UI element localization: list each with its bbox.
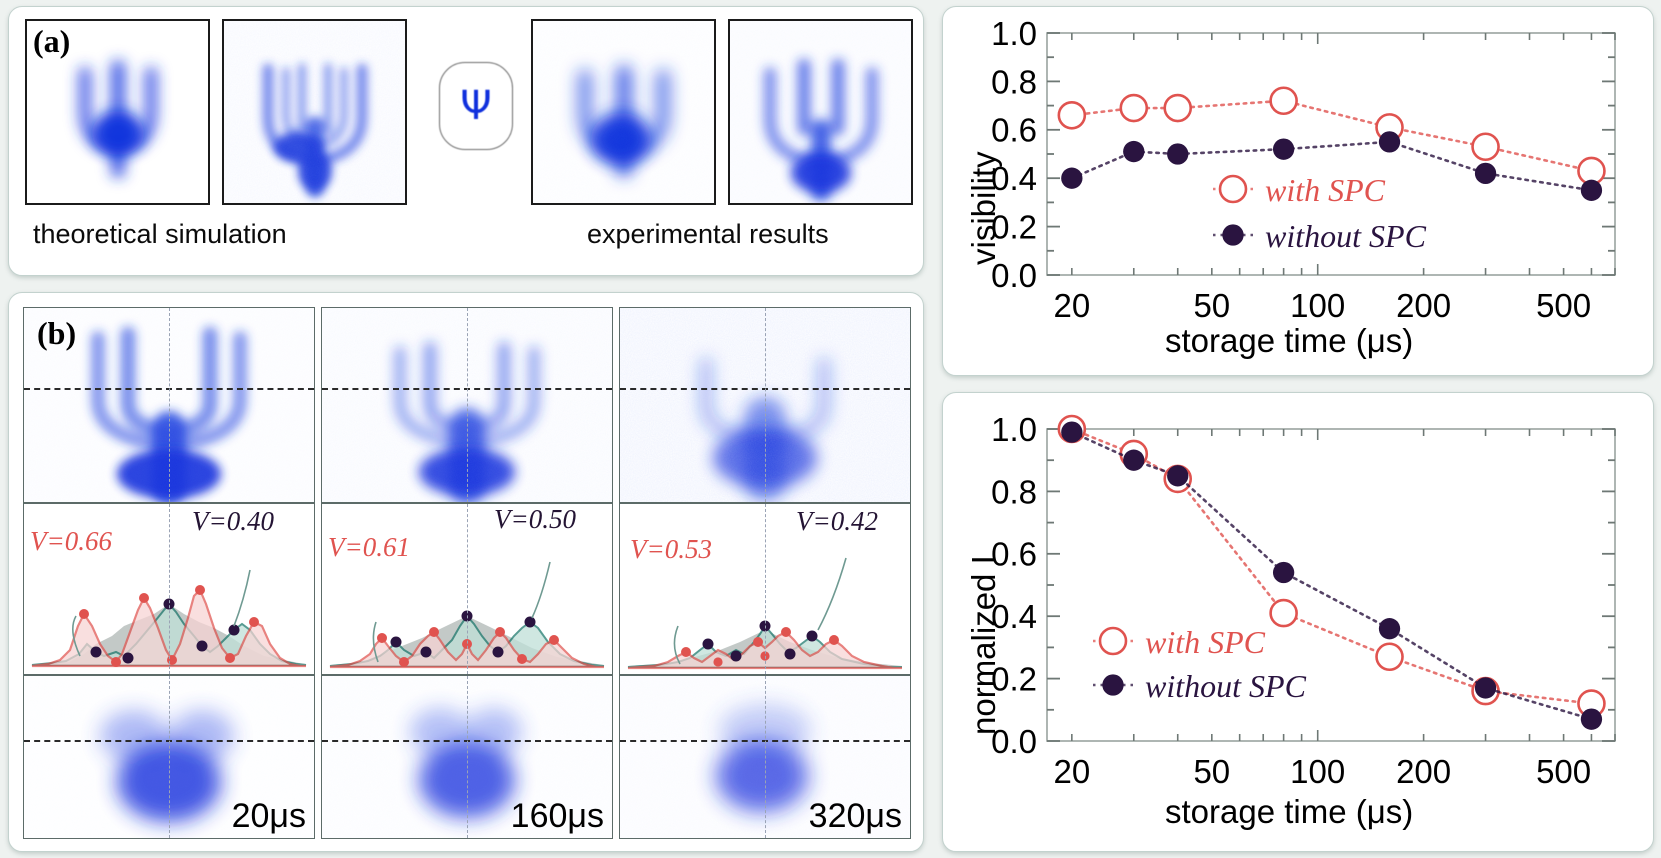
data-point-without-spc xyxy=(1581,180,1602,201)
panel-a-letter: (a) xyxy=(33,23,70,60)
legend-label-with-spc: with SPC xyxy=(1265,172,1386,208)
data-point-with-spc xyxy=(1059,102,1085,128)
legend-label-without-spc: without SPC xyxy=(1265,218,1427,254)
data-point-with-spc xyxy=(1377,644,1403,670)
panel-d-xlabel: storage time (μs) xyxy=(1165,793,1413,831)
b-col3-bottom-vline xyxy=(765,676,766,838)
experiment-psi-blurred-image xyxy=(531,19,716,205)
panel-b-column-320us: V=0.53 V=0.42 xyxy=(619,307,911,839)
data-point-with-spc xyxy=(1165,95,1191,121)
y-tick-label: 0.6 xyxy=(991,112,1037,149)
panel-b-column-160us: V=0.61 V=0.50 xyxy=(321,307,613,839)
x-tick-label: 20 xyxy=(1053,287,1090,324)
legend-marker-with-spc xyxy=(1220,176,1246,202)
b-col2-v-with-spc: V=0.61 xyxy=(328,532,410,563)
legend-marker-with-spc xyxy=(1100,628,1126,654)
b-col3-v-with-spc: V=0.53 xyxy=(630,534,712,565)
psi-glyph: Ψ xyxy=(460,83,491,129)
legend-marker-without-spc xyxy=(1102,674,1123,695)
b-col3-profile-vline xyxy=(765,504,766,674)
panel-b-card: (b) xyxy=(8,292,924,852)
b-col2-top-image xyxy=(321,307,613,503)
data-point-with-spc xyxy=(1473,134,1499,160)
b-col2-profile-plot: V=0.61 V=0.50 xyxy=(321,503,613,675)
experimental-results-caption: experimental results xyxy=(587,219,829,250)
panel-d-card: (d) 20501002005000.00.20.40.60.81.0with … xyxy=(942,392,1654,852)
y-tick-label: 1.0 xyxy=(991,15,1037,52)
b-col1-top-vline xyxy=(169,308,170,502)
b-col2-top-vline xyxy=(467,308,468,502)
panel-c-card: (c) 20501002005000.00.20.40.60.81.0with … xyxy=(942,6,1654,376)
data-point-without-spc xyxy=(1061,421,1082,442)
b-col2-profile-vline xyxy=(467,504,468,674)
data-point-without-spc xyxy=(1475,163,1496,184)
x-tick-label: 50 xyxy=(1193,753,1230,790)
data-point-without-spc xyxy=(1167,143,1188,164)
panel-c-ylabel: visibility xyxy=(965,151,1003,265)
x-tick-label: 500 xyxy=(1536,287,1591,324)
b-col1-time-label: 20μs xyxy=(232,797,306,836)
b-col2-v-without-spc: V=0.50 xyxy=(494,504,576,535)
x-tick-label: 200 xyxy=(1396,753,1451,790)
b-col3-v-without-spc: V=0.42 xyxy=(796,506,878,537)
panel-c-xlabel: storage time (μs) xyxy=(1165,322,1413,360)
x-tick-label: 500 xyxy=(1536,753,1591,790)
legend-label-with-spc: with SPC xyxy=(1145,624,1266,660)
data-point-without-spc xyxy=(1273,562,1294,583)
panel-d-ylabel: normalized I xyxy=(965,555,1003,735)
y-tick-label: 0.8 xyxy=(991,473,1037,510)
b-col3-top-image xyxy=(619,307,911,503)
data-point-without-spc xyxy=(1167,465,1188,486)
panel-d-plot: 20501002005000.00.20.40.60.81.0with SPCw… xyxy=(943,393,1655,853)
b-col3-time-label: 320μs xyxy=(809,797,902,836)
data-point-without-spc xyxy=(1123,450,1144,471)
b-col1-v-with-spc: V=0.66 xyxy=(30,526,112,557)
experiment-psi-interference-image xyxy=(728,19,913,205)
psi-symbol-badge: Ψ xyxy=(439,62,513,150)
data-point-with-spc xyxy=(1121,95,1147,121)
b-col1-profile-vline xyxy=(169,504,170,674)
theory-psi-interference-image xyxy=(222,19,407,205)
b-col1-profile-plot: V=0.66 V=0.40 xyxy=(23,503,315,675)
b-col2-bottom-image: 160μs xyxy=(321,675,613,839)
x-tick-label: 20 xyxy=(1053,753,1090,790)
legend-marker-without-spc xyxy=(1222,224,1243,245)
y-tick-label: 1.0 xyxy=(991,411,1037,448)
x-tick-label: 50 xyxy=(1193,287,1230,324)
panel-b-column-20us: V=0.66 V=0.40 xyxy=(23,307,315,839)
figure-stage: (a) xyxy=(0,0,1661,858)
theoretical-simulation-caption: theoretical simulation xyxy=(33,219,287,250)
b-col3-top-vline xyxy=(765,308,766,502)
data-point-without-spc xyxy=(1379,618,1400,639)
b-col2-bottom-vline xyxy=(467,676,468,838)
data-point-without-spc xyxy=(1379,131,1400,152)
x-tick-label: 200 xyxy=(1396,287,1451,324)
b-col3-bottom-image: 320μs xyxy=(619,675,911,839)
experiment-psi-interference-svg xyxy=(730,21,913,205)
data-point-without-spc xyxy=(1123,141,1144,162)
b-col3-profile-plot: V=0.53 V=0.42 xyxy=(619,503,911,675)
data-point-without-spc xyxy=(1273,139,1294,160)
b-col1-bottom-vline xyxy=(169,676,170,838)
data-point-with-spc xyxy=(1271,600,1297,626)
y-tick-label: 0.8 xyxy=(991,63,1037,100)
theory-psi-interference-svg xyxy=(224,21,407,205)
experiment-psi-blurred-svg xyxy=(533,21,716,205)
panel-a-card: (a) xyxy=(8,6,924,276)
legend-label-without-spc: without SPC xyxy=(1145,668,1307,704)
data-point-without-spc xyxy=(1581,709,1602,730)
b-col2-time-label: 160μs xyxy=(511,797,604,836)
x-tick-label: 100 xyxy=(1290,287,1345,324)
x-tick-label: 100 xyxy=(1290,753,1345,790)
data-point-with-spc xyxy=(1271,88,1297,114)
b-col1-v-without-spc: V=0.40 xyxy=(192,506,274,537)
data-point-without-spc xyxy=(1061,168,1082,189)
b-col1-bottom-image: 20μs xyxy=(23,675,315,839)
data-point-without-spc xyxy=(1475,677,1496,698)
panel-b-letter: (b) xyxy=(37,315,76,352)
